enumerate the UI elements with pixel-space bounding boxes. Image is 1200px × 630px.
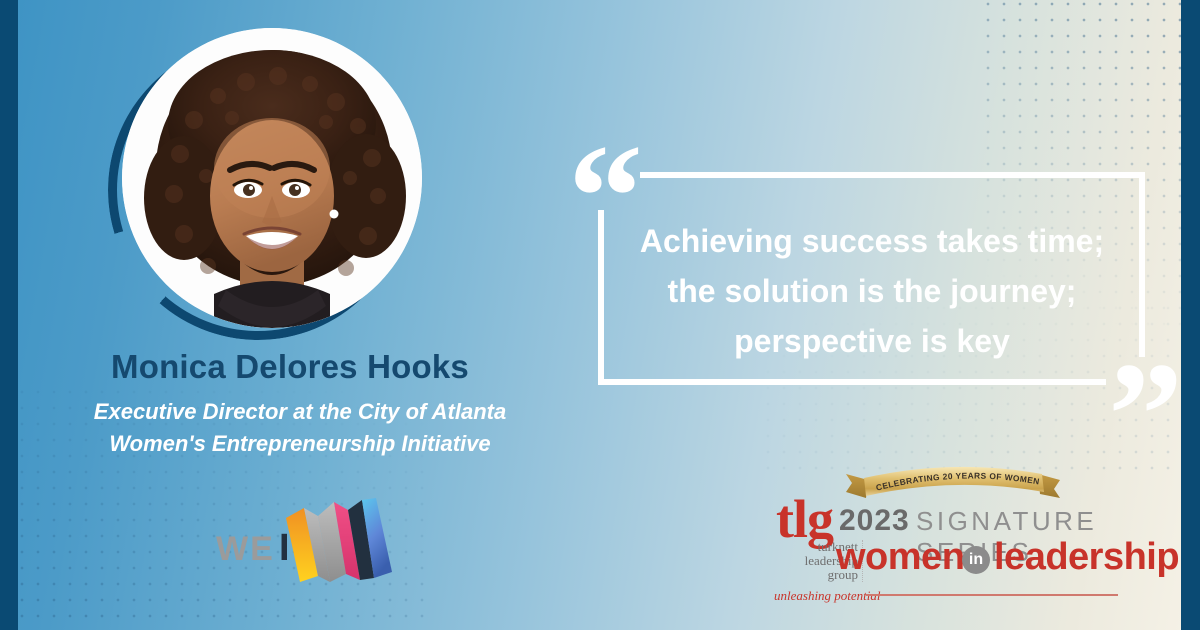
speaker-name: Monica Delores Hooks <box>0 348 580 386</box>
speaker-title-line-1: Executive Director at the City of Atlant… <box>10 396 590 428</box>
tlg-tagline: unleashing potential <box>774 588 881 604</box>
tlg-monogram: tlg <box>776 492 833 546</box>
quote-line-2: the solution is the journey; <box>612 266 1132 316</box>
wei-ribbon-icon <box>284 498 396 582</box>
quote-line-1: Achieving success takes time; <box>612 216 1132 266</box>
wei-logo-text: WE <box>216 530 275 569</box>
wil-word-leadership: leadership <box>994 536 1179 579</box>
left-edge-bar <box>0 0 18 630</box>
signature-series-year: 2023 <box>839 504 910 538</box>
quote-frame-right-line <box>1139 172 1145 357</box>
quote-frame-bottom-line <box>598 379 1106 385</box>
speaker-quote-card: Monica Delores Hooks Executive Director … <box>0 0 1200 630</box>
speaker-title: Executive Director at the City of Atlant… <box>10 396 590 460</box>
wei-logo: WE I <box>216 500 396 585</box>
tlg-signature-series-logo: CELEBRATING 20 YEARS OF WOMEN IN LEADERS… <box>770 466 1120 584</box>
wil-in-badge: in <box>962 546 990 574</box>
right-edge-bar <box>1181 0 1200 630</box>
quote-frame-top-line <box>640 172 1145 178</box>
anniversary-banner-icon: CELEBRATING 20 YEARS OF WOMEN IN LEADERS… <box>846 466 1060 506</box>
portrait <box>122 28 422 328</box>
speaker-title-line-2: Women's Entrepreneurship Initiative <box>10 428 590 460</box>
tlg-divider-rule <box>866 594 1118 596</box>
wil-word-women: women <box>836 536 964 579</box>
avatar <box>122 28 422 328</box>
quote-text: Achieving success takes time; the soluti… <box>612 216 1132 366</box>
quote-line-3: perspective is key <box>612 316 1132 366</box>
